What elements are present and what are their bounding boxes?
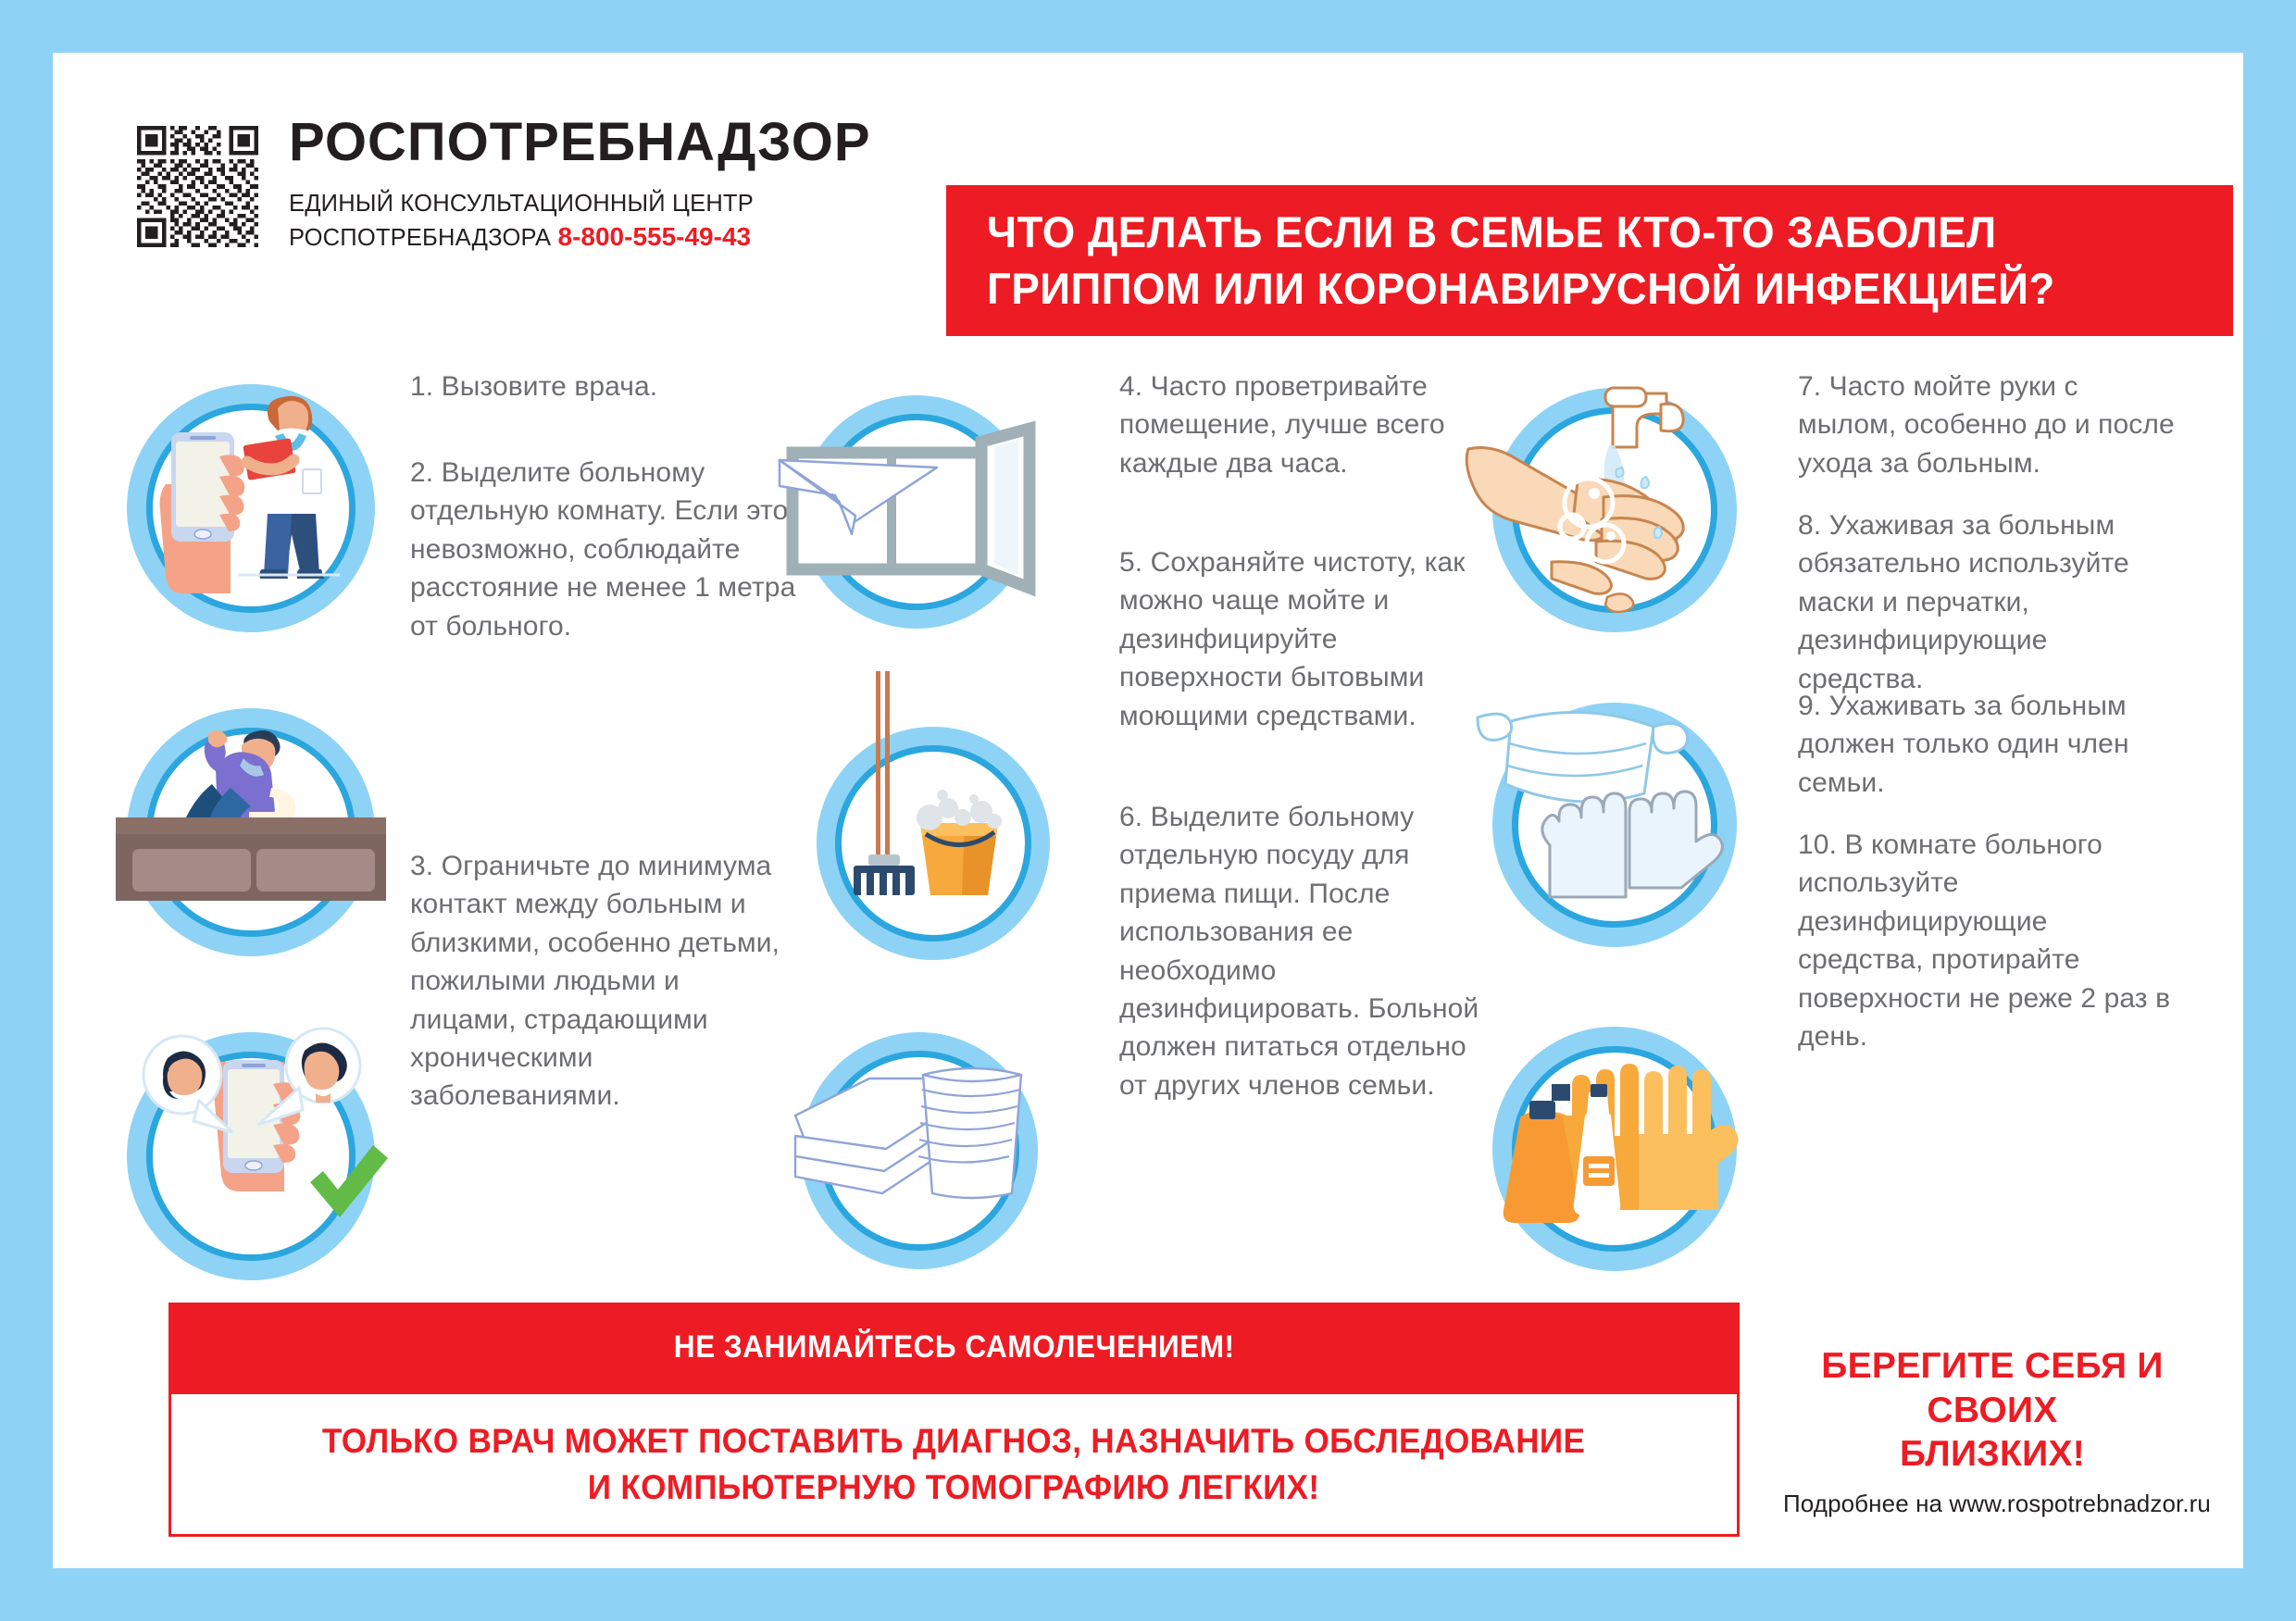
column-1: 1. Вызовите врача. 2. Выделите больному …	[108, 358, 840, 1275]
mask-and-gloves-icon	[1492, 703, 1737, 947]
doctor-notice-line-1: ТОЛЬКО ВРАЧ МОЖЕТ ПОСТАВИТЬ ДИАГНОЗ, НАЗ…	[322, 1418, 1585, 1465]
website-link[interactable]: Подробнее на www.rospotrebnadzor.ru	[1770, 1490, 2224, 1518]
step-6-text: 6. Выделите больному отдельную посуду дл…	[1119, 798, 1499, 1104]
doctor-notice-box: ТОЛЬКО ВРАЧ МОЖЕТ ПОСТАВИТЬ ДИАГНОЗ, НАЗ…	[168, 1391, 1740, 1537]
poster-card: РОСПОТРЕБНАДЗОР ЕДИНЫЙ КОНСУЛЬТАЦИОННЫЙ …	[53, 53, 2243, 1568]
org-name: РОСПОТРЕБНАДЗОР	[289, 116, 863, 169]
poster-footer: НЕ ЗАНИМАЙТЕСЬ САМОЛЕЧЕНИЕМ! ТОЛЬКО ВРАЧ…	[53, 1293, 2243, 1571]
title-line-2: ГРИППОМ ИЛИ КОРОНАВИРУСНОЙ ИНФЕКЦИЕЙ?	[987, 261, 2196, 317]
brand-block: РОСПОТРЕБНАДЗОР ЕДИНЫЙ КОНСУЛЬТАЦИОННЫЙ …	[289, 116, 863, 255]
open-window-airflow-icon	[800, 395, 1033, 629]
step-9-text: 9. Ухаживать за больным должен только од…	[1798, 687, 2168, 802]
consultation-center-info: ЕДИНЫЙ КОНСУЛЬТАЦИОННЫЙ ЦЕНТР РОСПОТРЕБН…	[289, 188, 863, 255]
title-line-1: ЧТО ДЕЛАТЬ ЕСЛИ В СЕМЬЕ КТО-ТО ЗАБОЛЕЛ	[987, 205, 2196, 260]
step-5-text: 5. Сохраняйте чистоту, как можно чаще мо…	[1119, 543, 1490, 735]
step-2-text: 2. Выделите больному отдельную комнату. …	[410, 454, 799, 645]
hotline-phone[interactable]: 8-800-555-49-43	[558, 222, 752, 251]
washing-hands-faucet-icon	[1492, 388, 1737, 632]
step-1-text: 1. Вызовите врача.	[410, 368, 780, 405]
step-4-text: 4. Часто проветривайте помещение, лучше …	[1119, 368, 1490, 482]
cleaning-products-gloves-icon	[1492, 1027, 1737, 1271]
steps-area: 1. Вызовите врача. 2. Выделите больному …	[53, 358, 2243, 1275]
step-10-text: 10. В комнате больного используйте дезин…	[1798, 826, 2177, 1055]
poster-header: РОСПОТРЕБНАДЗОР ЕДИНЫЙ КОНСУЛЬТАЦИОННЫЙ …	[53, 53, 2243, 266]
disposable-tableware-icon	[801, 1032, 1038, 1269]
consultation-center-line1: ЕДИНЫЙ КОНСУЛЬТАЦИОННЫЙ ЦЕНТР	[289, 188, 863, 219]
mop-and-bucket-icon	[817, 727, 1050, 960]
step-8-text: 8. Ухаживая за больным обязательно испол…	[1798, 506, 2168, 698]
care-message: БЕРЕГИТЕ СЕБЯ И СВОИХ БЛИЗКИХ!	[1775, 1344, 2210, 1477]
title-banner: ЧТО ДЕЛАТЬ ЕСЛИ В СЕМЬЕ КТО-ТО ЗАБОЛЕЛ Г…	[946, 185, 2233, 336]
care-line-2: БЛИЗКИХ!	[1775, 1432, 2210, 1477]
column-2: 4. Часто проветривайте помещение, лучше …	[793, 358, 1525, 1275]
person-resting-on-sofa-icon	[127, 708, 375, 956]
self-treatment-warning-bar: НЕ ЗАНИМАЙТЕСЬ САМОЛЕЧЕНИЕМ!	[168, 1303, 1740, 1391]
phone-chat-faces-checkmark-icon	[127, 1032, 375, 1280]
step-3-text: 3. Ограничьте до минимума контакт между …	[410, 847, 780, 1116]
step-7-text: 7. Часто мойте руки с мылом, особенно до…	[1798, 368, 2177, 482]
column-3: 7. Часто мойте руки с мылом, особенно до…	[1483, 358, 2224, 1275]
self-treatment-warning-text: НЕ ЗАНИМАЙТЕСЬ САМОЛЕЧЕНИЕМ!	[674, 1329, 1235, 1365]
consultation-center-line2: РОСПОТРЕБНАДЗОРА	[289, 225, 551, 251]
doctor-notice-line-2: И КОМПЬЮТЕРНУЮ ТОМОГРАФИЮ ЛЕГКИХ!	[588, 1465, 1320, 1511]
qr-code-icon	[137, 126, 258, 247]
care-line-1: БЕРЕГИТЕ СЕБЯ И СВОИХ	[1775, 1344, 2210, 1432]
phone-call-doctor-icon	[127, 384, 375, 632]
